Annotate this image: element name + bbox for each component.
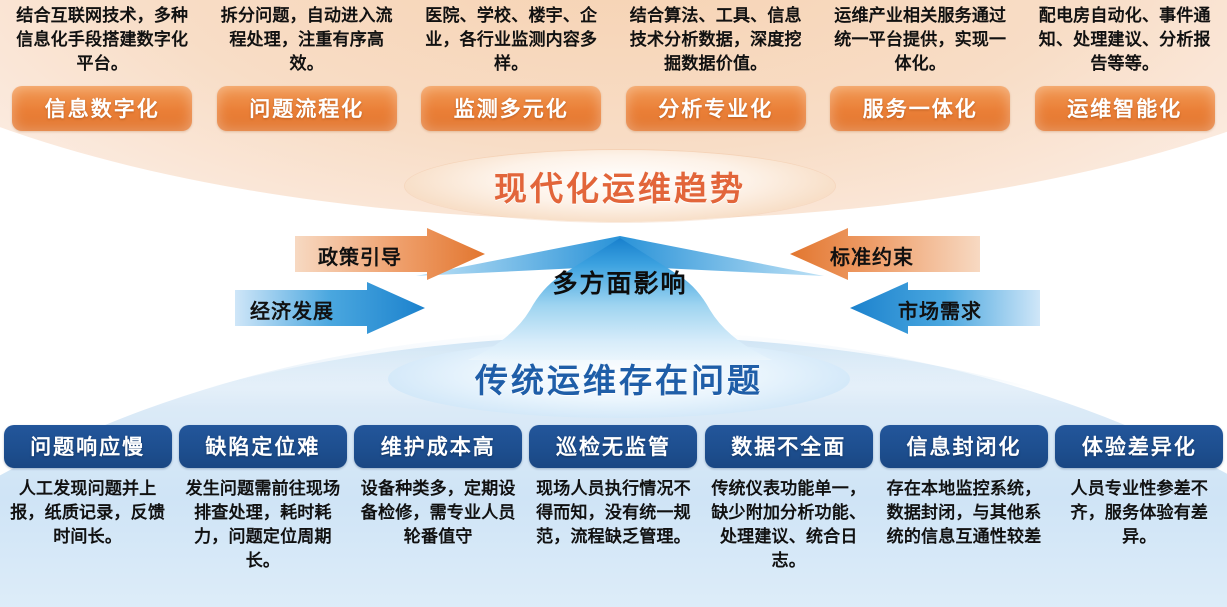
- center-influence-label: 多方面影响: [480, 262, 760, 302]
- trend-description: 运维产业相关服务通过统一平台提供，实现一体化。: [826, 4, 1014, 84]
- arrow-label-market-demand: 市场需求: [898, 295, 982, 324]
- arrow-label-standard-constraint: 标准约束: [830, 241, 914, 270]
- problem-column: 巡检无监管 现场人员执行情况不得而知，没有统一规范，流程缺乏管理。: [526, 425, 701, 607]
- problem-pill-button[interactable]: 信息封闭化: [880, 425, 1048, 468]
- trend-pill-button[interactable]: 分析专业化: [626, 86, 806, 131]
- problem-pill-button[interactable]: 缺陷定位难: [179, 425, 347, 468]
- trend-description: 配电房自动化、事件通知、处理建议、分析报告等等。: [1031, 4, 1219, 84]
- problem-pill-button[interactable]: 问题响应慢: [4, 425, 172, 468]
- trend-column: 拆分问题，自动进入流程处理，注重有序高效。 问题流程化: [205, 4, 410, 149]
- trend-description: 结合算法、工具、信息技术分析数据，深度挖掘数据价值。: [622, 4, 810, 84]
- trend-column: 医院、学校、楼宇、企业，各行业监测内容多样。 监测多元化: [409, 4, 614, 149]
- arrow-label-policy-guidance: 政策引导: [318, 241, 402, 270]
- trend-description: 拆分问题，自动进入流程处理，注重有序高效。: [213, 4, 401, 84]
- problem-column: 数据不全面 传统仪表功能单一，缺少附加分析功能、处理建议、统合日志。: [701, 425, 876, 607]
- trend-column: 结合算法、工具、信息技术分析数据，深度挖掘数据价值。 分析专业化: [614, 4, 819, 149]
- trend-description: 结合互联网技术，多种信息化手段搭建数字化平台。: [8, 4, 196, 84]
- problem-pill-button[interactable]: 维护成本高: [354, 425, 522, 468]
- problem-column: 维护成本高 设备种类多，定期设备检修，需专业人员轮番值守: [351, 425, 526, 607]
- infographic-canvas: 现代化运维趋势 多方面影响 传统运维存在问题 政策引导 经济发展 标准约束: [0, 0, 1227, 607]
- trend-pill-button[interactable]: 运维智能化: [1035, 86, 1215, 131]
- problem-pill-button[interactable]: 数据不全面: [705, 425, 873, 468]
- problem-column: 问题响应慢 人工发现问题并上报，纸质记录，反馈时间长。: [0, 425, 175, 607]
- problem-description: 现场人员执行情况不得而知，没有统一规范，流程缺乏管理。: [531, 477, 696, 549]
- problem-description: 人工发现问题并上报，纸质记录，反馈时间长。: [5, 477, 170, 549]
- problem-description: 人员专业性参差不齐，服务体验有差异。: [1057, 477, 1222, 549]
- problem-description: 存在本地监控系统，数据封闭，与其他系统的信息互通性较差: [882, 477, 1047, 549]
- problem-description: 发生问题需前往现场排查处理，耗时耗力，问题定位周期长。: [181, 477, 346, 574]
- trend-columns: 结合互联网技术，多种信息化手段搭建数字化平台。 信息数字化 拆分问题，自动进入流…: [0, 4, 1227, 149]
- trend-pill-button[interactable]: 问题流程化: [217, 86, 397, 131]
- trend-pill-button[interactable]: 监测多元化: [421, 86, 601, 131]
- bottom-section-title: 传统运维存在问题: [388, 348, 850, 408]
- problem-column: 缺陷定位难 发生问题需前往现场排查处理，耗时耗力，问题定位周期长。: [175, 425, 350, 607]
- top-section-title: 现代化运维趋势: [405, 157, 835, 215]
- trend-description: 医院、学校、楼宇、企业，各行业监测内容多样。: [417, 4, 605, 84]
- problem-pill-button[interactable]: 巡检无监管: [529, 425, 697, 468]
- problem-pill-button[interactable]: 体验差异化: [1055, 425, 1223, 468]
- trend-column: 配电房自动化、事件通知、处理建议、分析报告等等。 运维智能化: [1023, 4, 1227, 149]
- problem-description: 设备种类多，定期设备检修，需专业人员轮番值守: [356, 477, 521, 549]
- arrow-label-economic-development: 经济发展: [250, 295, 334, 324]
- trend-pill-button[interactable]: 信息数字化: [12, 86, 192, 131]
- problem-columns: 问题响应慢 人工发现问题并上报，纸质记录，反馈时间长。 缺陷定位难 发生问题需前…: [0, 425, 1227, 607]
- trend-column: 结合互联网技术，多种信息化手段搭建数字化平台。 信息数字化: [0, 4, 205, 149]
- problem-description: 传统仪表功能单一，缺少附加分析功能、处理建议、统合日志。: [706, 477, 871, 574]
- trend-pill-button[interactable]: 服务一体化: [830, 86, 1010, 131]
- problem-column: 体验差异化 人员专业性参差不齐，服务体验有差异。: [1052, 425, 1227, 607]
- trend-column: 运维产业相关服务通过统一平台提供，实现一体化。 服务一体化: [818, 4, 1023, 149]
- problem-column: 信息封闭化 存在本地监控系统，数据封闭，与其他系统的信息互通性较差: [876, 425, 1051, 607]
